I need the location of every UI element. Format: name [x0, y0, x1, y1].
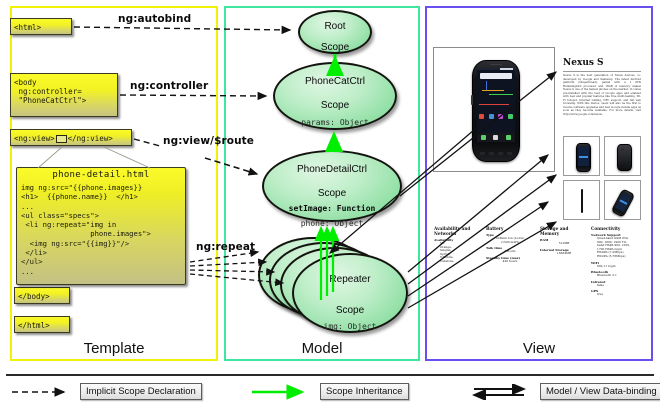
phone-hero-image [433, 47, 555, 172]
thumb2-phone-back [617, 144, 632, 171]
spec-column-connectivity: Connectivity Network Support Quad-band G… [591, 226, 643, 297]
legend-label-databinding: Model / View Data-binding [540, 383, 660, 400]
view-phone-description: Nexus S is the next generation of Nexus … [563, 74, 641, 132]
scope-repeater: Repeater Scope img: Object [292, 253, 408, 333]
legend-double-arrow-icon [468, 384, 534, 400]
phone-wallpaper-line-4 [479, 104, 509, 105]
scope-phonecatctrl: PhoneCatCtrl Scope params: Object [273, 62, 397, 130]
scope-phonedetailctrl: PhoneDetailCtrl Scope setImage: Function… [262, 150, 402, 222]
callout-phone-detail: phone-detail.html img ng:src="{{phone.im… [16, 167, 186, 285]
dock-icon-apps [493, 135, 498, 140]
phone-speaker [490, 64, 502, 65]
view-thumbnail-1[interactable] [563, 136, 600, 176]
code-box-ngview: <ng:view></ng:view> [10, 129, 132, 146]
diagram-root: Template Model View <html> <body ng:cont… [0, 0, 660, 420]
scope-phonecatctrl-name-1: PhoneCatCtrl [275, 76, 395, 88]
spec-value-network-5: HSUPA (5.76Mbps) [591, 255, 643, 259]
scope-repeater-stack: Repeater Scope img: Object [258, 237, 408, 337]
button-search [498, 152, 503, 155]
code-box-body-close: </body> [14, 287, 70, 304]
legend-item-implicit: Implicit Scope Declaration [8, 383, 202, 400]
view-rendered-page: Nexus S Nexus S is the next generation o… [432, 14, 646, 344]
edge-label-route: ng:view/$route [163, 135, 254, 147]
legend-divider [6, 374, 654, 376]
view-thumbnail-2[interactable] [604, 136, 641, 176]
view-thumbnail-3[interactable] [563, 180, 600, 220]
phone-dock-icons [477, 135, 515, 140]
spec-column-availability: Availability and Networks Availability M… [434, 226, 482, 264]
scope-repeater-name-2: Scope [294, 305, 406, 317]
legend-dashed-arrow-icon [8, 384, 74, 400]
spec-heading-availability: Availability and Networks [434, 226, 482, 236]
phone-status-icons [500, 68, 513, 70]
spec-value-battery-type-1: (1500 mAH) [486, 241, 534, 245]
legend: Implicit Scope Declaration Scope Inherit… [0, 380, 660, 408]
app-icon-4 [508, 114, 513, 119]
callout-code: img ng:src="{{phone.images}} <h1> {{phon… [21, 183, 182, 276]
pane-model-label: Model [226, 340, 418, 357]
spec-value-internal-storage: 16384MB [540, 252, 588, 256]
phone-screen [477, 68, 515, 142]
scope-repeater-attr-img: img: Object [294, 322, 406, 332]
spec-value-ram: 512MB [540, 242, 588, 246]
dock-icon-browser [506, 135, 511, 140]
edge-label-controller: ng:controller [130, 80, 208, 92]
thumb3-phone-side [581, 189, 583, 213]
button-back [480, 152, 485, 155]
scope-phonecatctrl-attr-params: params: Object [275, 118, 395, 128]
app-icon-2 [489, 114, 494, 119]
spec-column-battery: Battery Type Lithium Ion (Li-Ion) (1500 … [486, 226, 534, 263]
ngview-close-tag: </ng:view> [68, 134, 113, 143]
dock-icon-phone [481, 135, 486, 140]
ngview-open-tag: <ng:view> [14, 134, 55, 143]
code-box-html-close: </html> [14, 316, 70, 333]
spec-value-wifi: 802.11 b/g/n [591, 265, 643, 269]
scope-phonecatctrl-name-2: Scope [275, 100, 395, 112]
scope-repeater-name-1: Repeater [294, 274, 406, 286]
spec-value-availability-5: Vodafone [434, 260, 482, 264]
edge-label-repeat: ng:repeat [196, 241, 255, 253]
view-phone-title: Nexus S [563, 58, 641, 68]
spec-value-bluetooth: Bluetooth 2.1 [591, 274, 643, 278]
spec-heading-battery: Battery [486, 226, 534, 231]
ngview-placeholder-icon [56, 135, 67, 143]
code-box-html-open: <html> [10, 18, 72, 35]
scope-phonedetailctrl-name-1: PhoneDetailCtrl [264, 164, 400, 176]
legend-green-arrow-icon [248, 384, 314, 400]
phone-wallpaper-line-2 [482, 90, 504, 91]
spec-value-battery-standby: 428 hours [486, 260, 534, 264]
phone-illustration [472, 60, 520, 162]
scope-phonedetailctrl-attr-setimage: setImage: Function [264, 204, 400, 214]
scope-phonedetailctrl-name-2: Scope [264, 188, 400, 200]
spec-value-infrared: false [591, 284, 643, 288]
thumb1-phone [576, 143, 591, 172]
button-home [507, 152, 512, 155]
spec-heading-storage: Storage and Memory [540, 226, 588, 236]
legend-item-inheritance: Scope Inheritance [248, 383, 409, 400]
view-title-divider [563, 71, 641, 72]
app-icon-1 [479, 114, 484, 119]
thumb1-screen-content [579, 156, 588, 158]
phone-hardware-buttons [478, 149, 514, 158]
phone-wallpaper-line-1 [486, 81, 487, 90]
thumb4-phone-angle [611, 188, 636, 218]
phone-app-row-1 [477, 114, 515, 119]
legend-label-inheritance: Scope Inheritance [320, 383, 409, 400]
button-menu [489, 152, 494, 155]
edge-label-autobind: ng:autobind [118, 13, 191, 25]
thumb2-camera [621, 148, 624, 151]
view-specs-table: Availability and Networks Availability M… [434, 226, 642, 321]
app-icon-3 [498, 114, 503, 119]
scope-root: Root Scope [298, 10, 372, 54]
scope-root-name-2: Scope [300, 42, 370, 54]
code-box-body-open: <body ng:controller= "PhoneCatCtrl"> [10, 73, 118, 117]
phone-volume-button [471, 95, 473, 105]
legend-label-implicit: Implicit Scope Declaration [80, 383, 202, 400]
view-thumbnail-4[interactable] [604, 180, 641, 220]
scope-root-name-1: Root [300, 21, 370, 33]
pane-template-label: Template [12, 340, 216, 357]
scope-phonedetailctrl-attr-phone: phone: Object [264, 219, 400, 229]
spec-column-storage: Storage and Memory RAM 512MB Internal St… [540, 226, 588, 255]
spec-value-battery-talktime: 6 hours [486, 250, 534, 254]
spec-heading-connectivity: Connectivity [591, 226, 643, 231]
spec-value-gps: true [591, 293, 643, 297]
phone-search-widget [480, 73, 512, 79]
callout-title: phone-detail.html [17, 170, 185, 180]
legend-item-databinding: Model / View Data-binding [468, 383, 660, 400]
phone-wallpaper-line-3 [489, 94, 513, 95]
